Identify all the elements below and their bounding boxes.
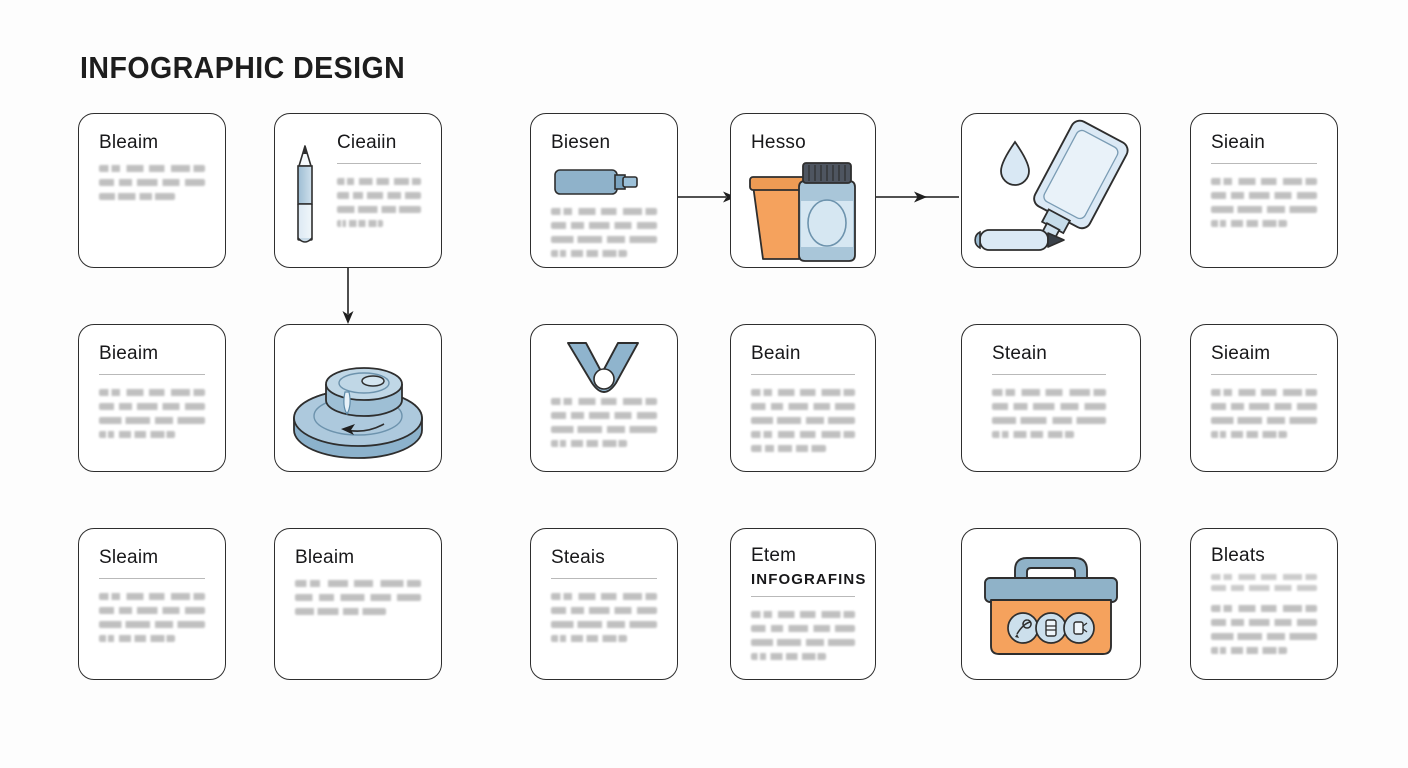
card-r3c5[interactable] [961,528,1141,680]
heading-divider [337,163,421,164]
text-line [551,236,657,243]
body-text [99,165,205,200]
body-text [1211,605,1317,654]
text-line [337,206,421,213]
heading-divider [751,596,855,597]
text-line [551,621,657,628]
card-r2c1[interactable]: Bieaim [78,324,226,472]
card-heading: Sieain [1211,132,1317,154]
text-line [751,403,855,410]
text-line [1211,417,1317,424]
text-line [1211,647,1287,654]
card-r1c5[interactable] [961,113,1141,268]
text-gap [1211,591,1317,605]
rotating-disc-icon [275,325,441,471]
text-line [751,389,855,396]
card-r1c2[interactable]: Cieaiin [274,113,442,268]
heading-divider [99,374,205,375]
card-r1c1[interactable]: Bleaim [78,113,226,268]
text-line [1211,431,1287,438]
text-line [99,621,205,628]
heading-divider [1211,374,1317,375]
text-line [751,639,855,646]
body-text [1211,178,1317,227]
text-line [751,431,855,438]
arrow-right-c4-c5 [875,186,961,208]
card-heading: Cieaiin [337,132,421,154]
text-line [1211,220,1287,227]
text-line [751,611,855,618]
text-line [992,389,1106,396]
card-r2c4[interactable]: Beain [730,324,876,472]
text-line [551,607,657,614]
body-text [99,593,205,642]
text-line [751,445,826,452]
subtitle-text [1211,574,1317,591]
card-r2c5[interactable]: Steain [961,324,1141,472]
bottle-droplet-pen-icon [962,114,1140,267]
text-line [551,222,657,229]
body-text [551,593,657,642]
text-line [551,593,657,600]
text-line [1211,574,1317,580]
text-line [751,653,826,660]
arrow-down-col2 [331,266,367,328]
body-text [751,389,855,452]
body-text [1211,389,1317,438]
body-text [295,580,421,615]
text-line [992,403,1106,410]
card-heading: Bieaim [99,343,205,365]
text-line [751,417,855,424]
text-line [751,625,855,632]
text-line [295,594,421,601]
text-line [295,608,386,615]
text-line [1211,633,1317,640]
text-line [992,417,1106,424]
body-text [551,398,657,447]
text-line [551,426,657,433]
card-r3c2[interactable]: Bleaim [274,528,442,680]
card-heading: Bleaim [99,132,205,154]
text-line [551,412,657,419]
text-line [99,431,175,438]
card-heading: Steain [992,343,1106,365]
heading-divider [99,578,205,579]
card-heading: Biesen [551,132,657,154]
text-line [99,607,205,614]
text-line [99,593,205,600]
card-r3c3[interactable]: Steais [530,528,678,680]
text-line [1211,585,1317,591]
text-line [1211,619,1317,626]
heading-spacer [99,154,205,165]
card-subheading: INFOGRAFINS [751,571,855,588]
heading-divider [751,374,855,375]
text-line [99,165,205,172]
body-text [551,208,657,257]
card-r2c2[interactable] [274,324,442,472]
marker-icon [553,164,657,198]
card-r1c3[interactable]: Biesen [530,113,678,268]
card-heading: Sleaim [99,547,205,569]
body-text [337,178,421,227]
card-heading: Steais [551,547,657,569]
heading-spacer [295,569,421,580]
text-line [337,192,421,199]
text-line [337,220,383,227]
card-r2c3[interactable] [530,324,678,472]
infographic-board: Bleaim [0,0,1408,768]
text-line [99,417,205,424]
text-line [295,580,421,587]
text-line [337,178,421,185]
text-line [99,179,205,186]
card-heading: Bleats [1211,545,1317,567]
heading-divider [992,374,1106,375]
text-line [99,635,175,642]
text-line [99,389,205,396]
text-line [992,431,1074,438]
cup-and-bottle-icon [731,151,875,267]
text-line [551,250,627,257]
text-line [1211,178,1317,185]
text-line [1211,403,1317,410]
text-line [551,440,627,447]
text-line [1211,192,1317,199]
card-heading: Bleaim [295,547,421,569]
text-line [99,403,205,410]
text-line [551,635,627,642]
heading-divider [551,578,657,579]
card-r3c4[interactable]: Etem INFOGRAFINS [730,528,876,680]
body-text [992,389,1106,438]
card-heading: Sieaim [1211,343,1317,365]
text-line [551,208,657,215]
card-r3c1[interactable]: Sleaim [78,528,226,680]
body-text [99,389,205,438]
toolbox-icon [962,529,1140,679]
card-heading: Etem [751,545,855,567]
text-line [1211,206,1317,213]
text-line [99,193,175,200]
card-heading: Beain [751,343,855,365]
card-r2c6[interactable]: Sieaim [1190,324,1338,472]
card-r1c4[interactable]: Hesso [730,113,876,268]
heading-divider [1211,163,1317,164]
text-line [551,398,657,405]
card-r3c6[interactable]: Bleats [1190,528,1338,680]
card-r1c6[interactable]: Sieain [1190,113,1338,268]
body-text [751,611,855,660]
text-line [1211,389,1317,396]
text-line [1211,605,1317,612]
